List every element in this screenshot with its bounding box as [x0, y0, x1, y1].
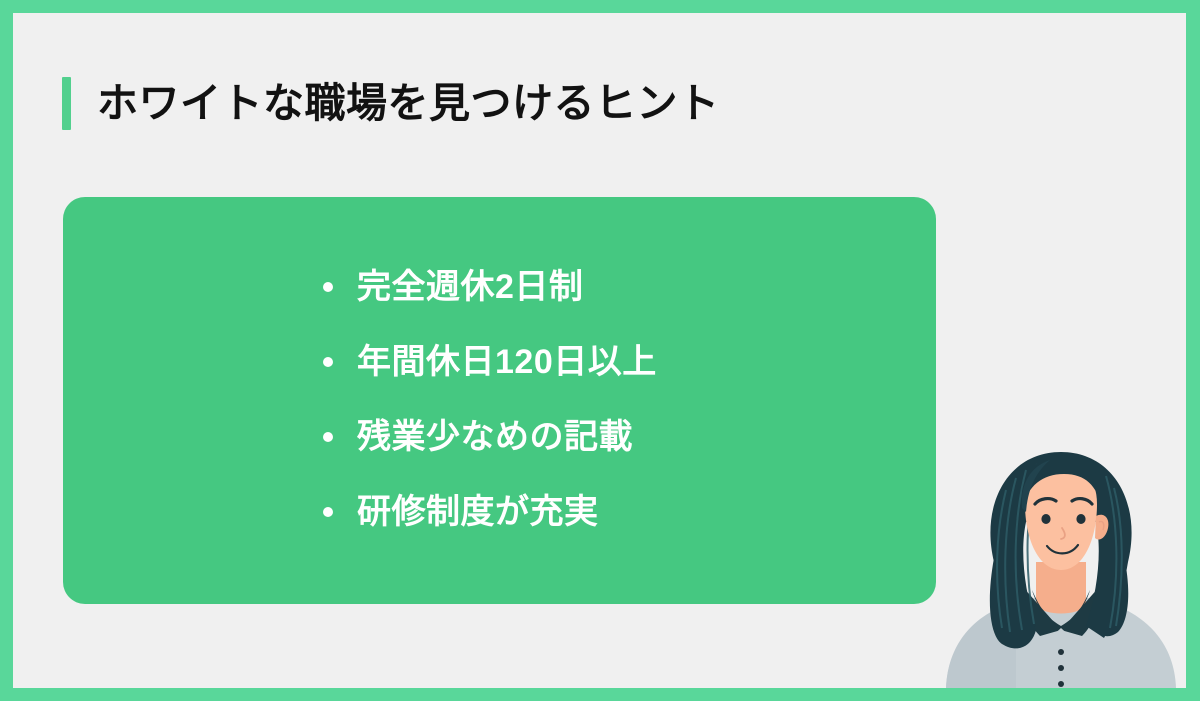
bullet-dot-icon	[323, 357, 333, 367]
title-accent-bar	[62, 77, 71, 130]
page-title-row: ホワイトな職場を見つけるヒント	[62, 75, 720, 131]
slide-inner-panel: ホワイトな職場を見つけるヒント 完全週休2日制 年間休日120日以上 残業少なめ…	[13, 13, 1186, 688]
page-title: ホワイトな職場を見つけるヒント	[97, 83, 720, 124]
list-item: 残業少なめの記載	[323, 399, 657, 474]
tips-bullet-list: 完全週休2日制 年間休日120日以上 残業少なめの記載 研修制度が充実	[323, 249, 657, 549]
list-item-label: 研修制度が充実	[357, 495, 599, 529]
list-item: 研修制度が充実	[323, 474, 657, 549]
list-item-label: 残業少なめの記載	[357, 420, 633, 454]
bullet-dot-icon	[323, 432, 333, 442]
bullet-dot-icon	[323, 282, 333, 292]
list-item: 年間休日120日以上	[323, 324, 657, 399]
list-item-label: 年間休日120日以上	[357, 345, 657, 379]
list-item-label: 完全週休2日制	[357, 270, 583, 304]
slide-canvas: ホワイトな職場を見つけるヒント 完全週休2日制 年間休日120日以上 残業少なめ…	[0, 0, 1200, 701]
bullet-dot-icon	[323, 507, 333, 517]
highlight-card: 完全週休2日制 年間休日120日以上 残業少なめの記載 研修制度が充実	[63, 197, 936, 604]
woman-portrait-illustration	[936, 430, 1186, 688]
list-item: 完全週休2日制	[323, 249, 657, 324]
